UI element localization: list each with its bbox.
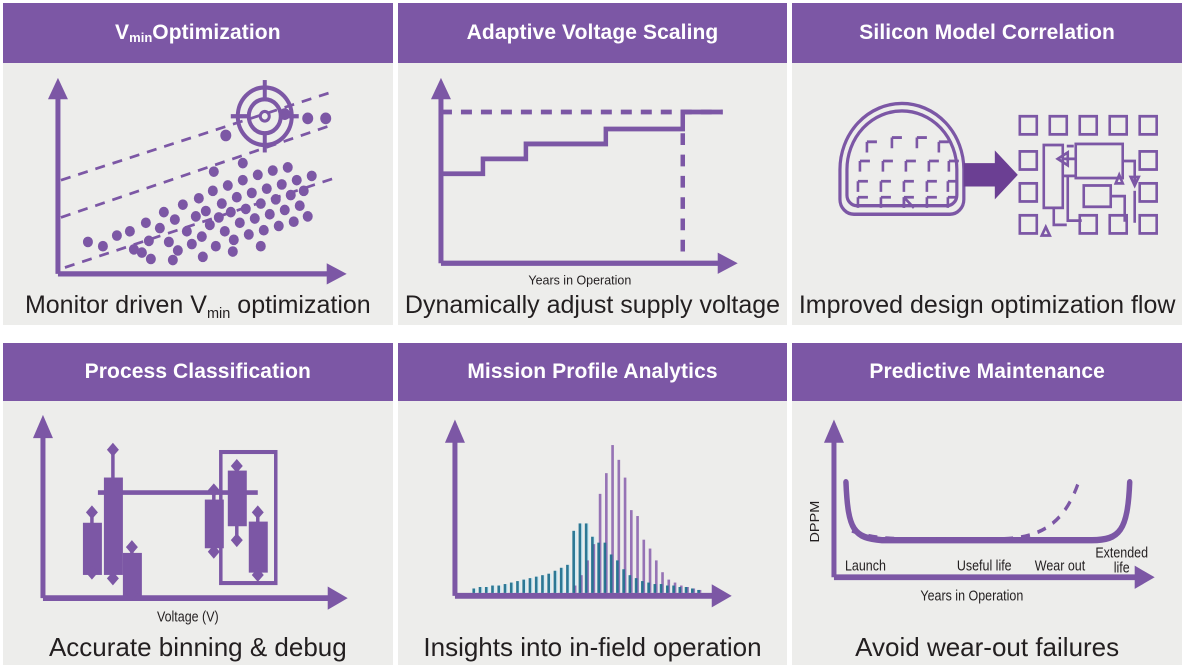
stage-label-launch: Launch <box>845 557 886 573</box>
panel-title-silicon-model-correlation: Silicon Model Correlation <box>792 3 1182 63</box>
histogram-bar-measured <box>653 584 656 593</box>
histogram-bar-measured <box>560 568 563 593</box>
histogram-bar-measured <box>678 587 681 593</box>
right-arrow-icon <box>964 150 1018 199</box>
panel-caption-process-classification: Accurate binning & debug <box>3 633 393 665</box>
panel-body-process-classification: Voltage (V) Accurate binning & debug <box>3 401 393 665</box>
scatter-chart-svg <box>3 63 393 292</box>
x-axis-arrowhead <box>328 587 348 610</box>
histogram-bar-measured <box>591 537 594 593</box>
panel-caption-silicon-model-correlation: Improved design optimization flow <box>792 292 1182 325</box>
figure-wafer-to-schematic <box>792 63 1182 292</box>
panel-silicon-model-correlation: Silicon Model Correlation <box>792 3 1182 325</box>
panel-process-classification: Process Classification <box>3 343 393 665</box>
histogram-bar-measured <box>634 578 637 593</box>
histogram-bar-measured <box>572 531 575 593</box>
panel-title-mission-profile-analytics: Mission Profile Analytics <box>398 343 788 401</box>
bathtub-chart-svg: DPPM Launch Useful life Wear out Extende… <box>792 401 1182 633</box>
panel-adaptive-voltage-scaling: Adaptive Voltage Scaling Years in Operat… <box>398 3 788 325</box>
histogram-bar-measured <box>503 584 506 593</box>
schematic-symbols <box>1042 152 1139 235</box>
histogram-bars <box>472 445 701 593</box>
histogram-bar-measured <box>491 586 494 593</box>
curve-extended-life <box>846 482 1130 540</box>
panel-mission-profile-analytics: Mission Profile Analytics Insights into … <box>398 343 788 665</box>
trendline-mid <box>61 125 333 218</box>
panel-title-text-post: Optimization <box>152 21 280 45</box>
caption-text: Avoid wear-out failures <box>855 632 1119 662</box>
y-axis-arrowhead <box>824 420 844 443</box>
histogram-bar-measured <box>553 571 556 593</box>
histogram-bar-measured <box>666 586 669 593</box>
histogram-bar-measured <box>628 575 631 593</box>
caption-text-pre: Monitor driven V <box>25 291 207 319</box>
histogram-chart-svg <box>398 401 788 633</box>
panel-title-text-pre: V <box>115 21 129 45</box>
figure-histogram <box>398 401 788 633</box>
boxplot-chart-svg: Voltage (V) <box>3 401 393 633</box>
boxplot-bin-2 <box>104 443 123 586</box>
panel-body-vmin-optimization: Monitor driven Vmin optimization <box>3 63 393 325</box>
panel-body-adaptive-voltage-scaling: Years in Operation Dynamically adjust su… <box>398 63 788 325</box>
histogram-bar-measured <box>541 575 544 593</box>
histogram-bar-measured <box>478 587 481 593</box>
caption-text: Dynamically adjust supply voltage <box>405 291 780 319</box>
histogram-bar-measured <box>516 581 519 593</box>
boxplot-bin-3 <box>123 540 142 600</box>
panel-title-text: Mission Profile Analytics <box>467 360 717 384</box>
x-axis-arrowhead <box>327 263 347 284</box>
y-axis-arrowhead <box>445 420 465 443</box>
figure-scatter-trend-target <box>3 63 393 292</box>
histogram-bar-measured <box>697 590 700 593</box>
caption-text-post: optimization <box>230 291 370 319</box>
panel-caption-mission-profile-analytics: Insights into in-field operation <box>398 633 788 665</box>
histogram-bar-measured <box>522 580 525 593</box>
histogram-bar-measured <box>684 587 687 593</box>
histogram-bar-measured <box>647 583 650 593</box>
stage-label-wear-out: Wear out <box>1035 557 1086 573</box>
x-axis-label: Years in Operation <box>921 588 1024 604</box>
panel-title-process-classification: Process Classification <box>3 343 393 401</box>
x-axis-label: Voltage (V) <box>157 608 219 624</box>
figure-staircase: Years in Operation <box>398 63 788 292</box>
caption-subscript: min <box>207 306 230 322</box>
histogram-bar-measured <box>485 587 488 593</box>
panel-title-text: Process Classification <box>85 360 311 384</box>
histogram-bar-measured <box>616 560 619 593</box>
wafer-schematic-svg <box>792 63 1182 292</box>
panel-title-predictive-maintenance: Predictive Maintenance <box>792 343 1182 401</box>
x-axis-arrowhead <box>717 253 737 274</box>
panel-title-subscript: min <box>129 30 152 45</box>
histogram-bar-measured <box>566 565 569 593</box>
boxplot-bin-6 <box>249 505 268 582</box>
histogram-bar-measured <box>603 543 606 593</box>
panel-title-adaptive-voltage-scaling: Adaptive Voltage Scaling <box>398 3 788 63</box>
boxplot-bin-5 <box>228 459 247 547</box>
histogram-bar-measured <box>584 523 587 592</box>
histogram-bar-measured <box>672 586 675 593</box>
y-axis-label: DPPM <box>808 501 822 543</box>
histogram-bar-measured <box>510 583 513 593</box>
panel-caption-adaptive-voltage-scaling: Dynamically adjust supply voltage <box>398 292 788 325</box>
histogram-bar-measured <box>659 584 662 593</box>
panel-body-silicon-model-correlation: Improved design optimization flow <box>792 63 1182 325</box>
histogram-bar-measured <box>528 578 531 593</box>
panel-title-text: Predictive Maintenance <box>869 360 1105 384</box>
target-crosshair-icon <box>231 80 299 152</box>
histogram-bar-measured <box>641 581 644 593</box>
stage-label-extended-life: life <box>1114 560 1130 576</box>
stage-label-useful-life: Useful life <box>957 557 1012 573</box>
panel-caption-predictive-maintenance: Avoid wear-out failures <box>792 633 1182 665</box>
histogram-bar-measured <box>472 588 475 592</box>
panel-predictive-maintenance: Predictive Maintenance DPPM Launch Usefu… <box>792 343 1182 665</box>
histogram-bar-measured <box>497 586 500 593</box>
caption-text: Accurate binning & debug <box>49 632 347 662</box>
boxplot-bin-1 <box>83 505 102 579</box>
x-axis-arrowhead <box>1135 566 1155 589</box>
histogram-bar-measured <box>609 554 612 592</box>
caption-text: Insights into in-field operation <box>423 632 761 662</box>
x-axis-arrowhead <box>711 584 731 607</box>
y-axis-arrowhead <box>431 78 451 99</box>
stage-label-extended: Extended <box>1096 545 1149 561</box>
histogram-bar-measured <box>597 543 600 593</box>
caption-text: Improved design optimization flow <box>799 291 1176 319</box>
figure-bathtub-curve: DPPM Launch Useful life Wear out Extende… <box>792 401 1182 633</box>
panel-body-predictive-maintenance: DPPM Launch Useful life Wear out Extende… <box>792 401 1182 665</box>
panel-body-mission-profile-analytics: Insights into in-field operation <box>398 401 788 665</box>
panel-title-text: Silicon Model Correlation <box>859 21 1115 45</box>
wafer-die-grid <box>858 138 959 208</box>
y-axis-arrowhead <box>48 78 68 99</box>
curve-baseline <box>852 484 1078 539</box>
figure-boxplots: Voltage (V) <box>3 401 393 633</box>
histogram-bar-measured <box>547 574 550 593</box>
y-axis-arrowhead <box>33 415 53 438</box>
schematic-diagram <box>1020 116 1157 233</box>
histogram-bar-measured <box>691 588 694 592</box>
histogram-bar-measured <box>622 569 625 593</box>
voltage-step-series <box>441 112 723 174</box>
panel-caption-vmin-optimization: Monitor driven Vmin optimization <box>3 292 393 325</box>
panel-vmin-optimization: Vmin Optimization <box>3 3 393 325</box>
panel-grid: Vmin Optimization <box>0 0 1185 665</box>
panel-title-text: Adaptive Voltage Scaling <box>467 21 719 45</box>
histogram-bar-measured <box>578 523 581 592</box>
panel-title-vmin-optimization: Vmin Optimization <box>3 3 393 63</box>
histogram-bar-measured <box>535 577 538 593</box>
x-axis-label: Years in Operation <box>528 272 631 287</box>
staircase-chart-svg: Years in Operation <box>398 63 788 292</box>
